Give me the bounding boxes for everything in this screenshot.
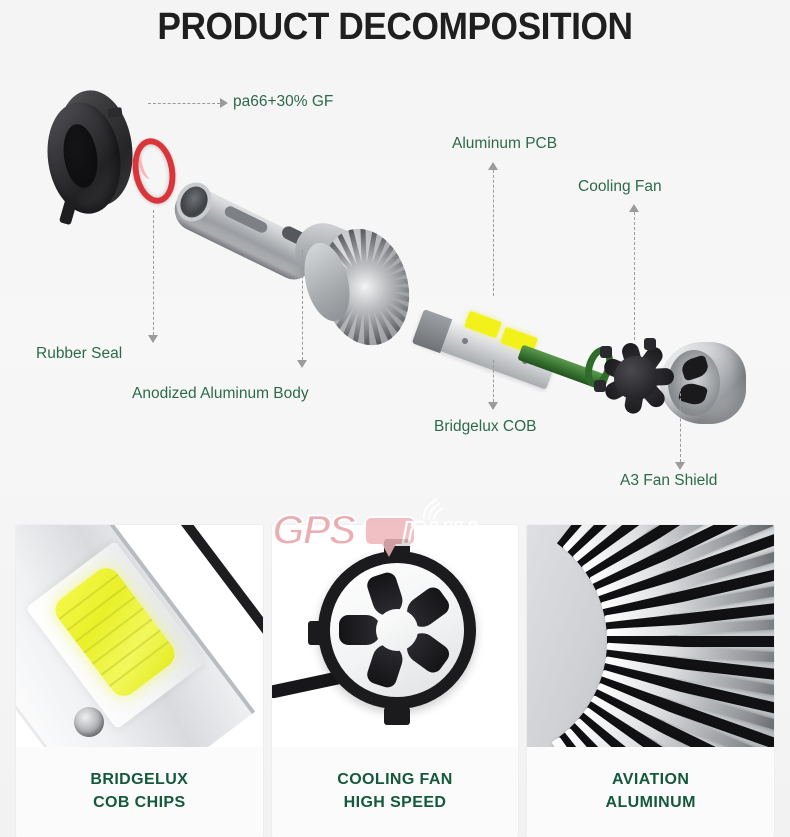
dust-cap-part bbox=[48, 88, 136, 218]
card-caption-aviation-aluminum: AVIATION ALUMINUM bbox=[527, 747, 774, 837]
fan-tab-top bbox=[384, 539, 410, 557]
callout-label-bridgelux-cob: Bridgelux COB bbox=[434, 418, 537, 436]
callout-label-anodized-body: Anodized Aluminum Body bbox=[132, 385, 309, 403]
leader-line-a3-fan-shield bbox=[680, 378, 681, 462]
leader-line-pa66 bbox=[148, 103, 220, 104]
arrow-bridgelux-cob bbox=[488, 402, 498, 410]
card-caption-line2: COB CHIPS bbox=[93, 792, 186, 815]
feature-cards: BRIDGELUX COB CHIPS COOLING FAN HIGH bbox=[0, 525, 790, 837]
feature-card-cooling-fan[interactable]: COOLING FAN HIGH SPEED bbox=[272, 525, 519, 837]
fan-post-2 bbox=[594, 380, 606, 392]
fan-center-hub bbox=[376, 609, 418, 651]
leader-line-cooling-fan bbox=[634, 212, 635, 340]
dust-cap-tail bbox=[59, 199, 77, 225]
fan-post-3 bbox=[644, 338, 656, 350]
arrow-aluminum-pcb bbox=[488, 162, 498, 170]
fan-post-1 bbox=[600, 346, 612, 358]
card-caption-line1: AVIATION bbox=[612, 769, 689, 792]
o-ring-shape bbox=[128, 135, 181, 207]
card-caption-line1: COOLING FAN bbox=[337, 769, 453, 792]
leader-line-aluminum-pcb bbox=[493, 170, 494, 296]
fan-blade bbox=[339, 615, 381, 645]
callout-label-aluminum-pcb: Aluminum PCB bbox=[452, 135, 557, 153]
card-caption-line1: BRIDGELUX bbox=[90, 769, 188, 792]
fan-artwork bbox=[272, 525, 519, 747]
heatsink-artwork bbox=[527, 525, 774, 747]
callout-label-pa66: pa66+30% GF bbox=[233, 93, 333, 111]
product-decomposition-infographic: PRODUCT DECOMPOSITION bbox=[0, 0, 790, 837]
exploded-view-diagram: pa66+30% GF Rubber Seal Anodized Aluminu… bbox=[0, 60, 790, 500]
dust-cap-tab bbox=[107, 107, 122, 118]
feature-card-aviation-aluminum[interactable]: AVIATION ALUMINUM bbox=[527, 525, 774, 837]
heat-sink-part bbox=[300, 220, 425, 355]
fan-hub bbox=[614, 356, 658, 400]
fan-tab-bottom bbox=[384, 707, 410, 725]
card-caption-line2: HIGH SPEED bbox=[344, 792, 447, 815]
card-caption-bridgelux: BRIDGELUX COB CHIPS bbox=[16, 747, 263, 837]
feature-card-bridgelux[interactable]: BRIDGELUX COB CHIPS bbox=[16, 525, 263, 837]
arrow-anodized-body bbox=[297, 360, 307, 368]
page-title: PRODUCT DECOMPOSITION bbox=[28, 6, 763, 49]
arrow-rubber-seal bbox=[148, 335, 158, 343]
leader-line-rubber-seal bbox=[153, 210, 154, 335]
card-caption-cooling-fan: COOLING FAN HIGH SPEED bbox=[272, 747, 519, 837]
callout-label-a3-fan-shield: A3 Fan Shield bbox=[620, 472, 717, 490]
fan-tab-left bbox=[308, 621, 326, 645]
card-caption-line2: ALUMINUM bbox=[606, 792, 696, 815]
card-image-cooling-fan bbox=[272, 525, 519, 747]
callout-label-rubber-seal: Rubber Seal bbox=[36, 345, 122, 363]
arrow-cooling-fan bbox=[629, 204, 639, 212]
leader-line-anodized-body bbox=[302, 250, 303, 360]
cob-screw bbox=[74, 707, 104, 737]
callout-label-cooling-fan: Cooling Fan bbox=[578, 178, 662, 196]
card-image-cob-chip bbox=[16, 525, 263, 747]
card-image-heatsink bbox=[527, 525, 774, 747]
rubber-o-ring-part bbox=[133, 138, 175, 204]
a3-fan-shield-part bbox=[660, 342, 746, 424]
leader-line-bridgelux-cob bbox=[493, 360, 494, 402]
arrow-pa66 bbox=[220, 98, 228, 108]
arrow-a3-fan-shield bbox=[675, 462, 685, 470]
